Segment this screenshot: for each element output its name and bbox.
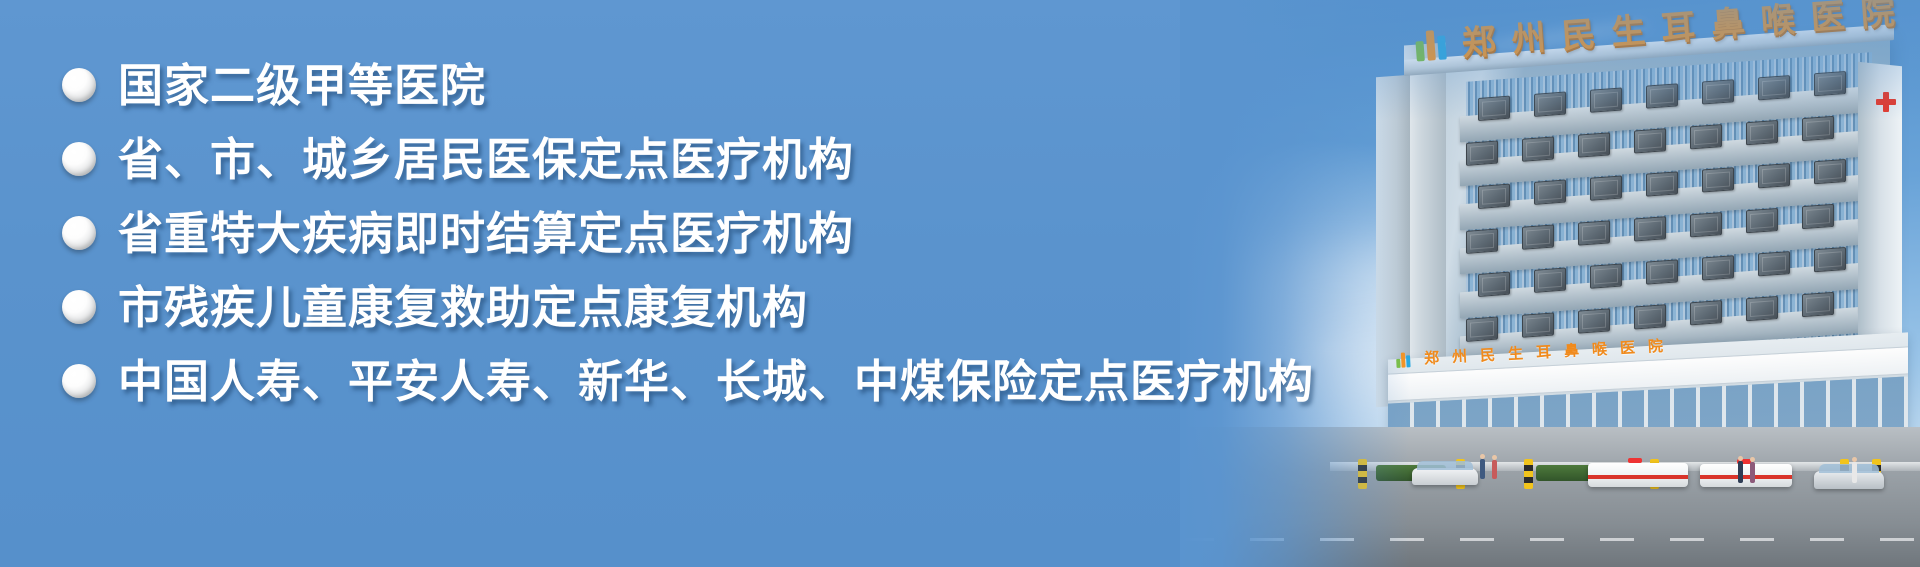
bullet-dot-icon <box>62 142 96 176</box>
entrance-sign-char: 州 <box>1452 345 1468 367</box>
list-item-label: 省重特大疾病即时结算定点医疗机构 <box>118 211 854 256</box>
list-item-label: 市残疾儿童康复救助定点康复机构 <box>118 285 808 330</box>
pedestrian <box>1480 459 1485 479</box>
list-item-label: 中国人寿、平安人寿、新华、长城、中煤保险定点医疗机构 <box>118 359 1314 404</box>
list-item: 国家二级甲等医院 <box>62 48 1280 122</box>
ambulance <box>1588 463 1688 487</box>
entrance-sign-char: 医 <box>1619 336 1635 358</box>
promo-banner: 郑 州 民 生 耳 鼻 喉 医 院 郑 州 民 生 耳 <box>0 0 1920 567</box>
parked-car <box>1814 471 1884 489</box>
ambulance <box>1700 464 1792 487</box>
entrance-sign-char: 鼻 <box>1563 339 1579 361</box>
bullet-dot-icon <box>62 290 96 324</box>
parked-car <box>1412 468 1478 485</box>
bullet-dot-icon <box>62 364 96 398</box>
list-item-label: 国家二级甲等医院 <box>118 63 486 108</box>
list-item: 市残疾儿童康复救助定点康复机构 <box>62 270 1280 344</box>
bullet-dot-icon <box>62 216 96 250</box>
bollard <box>1524 459 1533 489</box>
entrance-sign-char: 民 <box>1480 344 1496 366</box>
entrance-sign-char: 生 <box>1508 342 1524 364</box>
list-item: 省重特大疾病即时结算定点医疗机构 <box>62 196 1280 270</box>
hospital-building-photo: 郑 州 民 生 耳 鼻 喉 医 院 郑 州 民 生 耳 <box>1180 0 1920 567</box>
list-item: 中国人寿、平安人寿、新华、长城、中煤保险定点医疗机构 <box>62 344 1280 418</box>
list-item: 省、市、城乡居民医保定点医疗机构 <box>62 122 1280 196</box>
entrance-sign-char: 郑 <box>1424 347 1440 369</box>
pedestrian <box>1852 462 1857 483</box>
credentials-list: 国家二级甲等医院 省、市、城乡居民医保定点医疗机构 省重特大疾病即时结算定点医疗… <box>0 0 1280 567</box>
entrance-sign-char: 耳 <box>1536 341 1552 363</box>
pedestrian <box>1492 460 1497 479</box>
entrance-sign-char: 院 <box>1647 335 1663 357</box>
pedestrian <box>1738 461 1743 483</box>
bullet-dot-icon <box>62 68 96 102</box>
entrance-sign-char: 喉 <box>1591 338 1607 360</box>
list-item-label: 省、市、城乡居民医保定点医疗机构 <box>118 137 854 182</box>
pedestrian <box>1750 462 1755 483</box>
